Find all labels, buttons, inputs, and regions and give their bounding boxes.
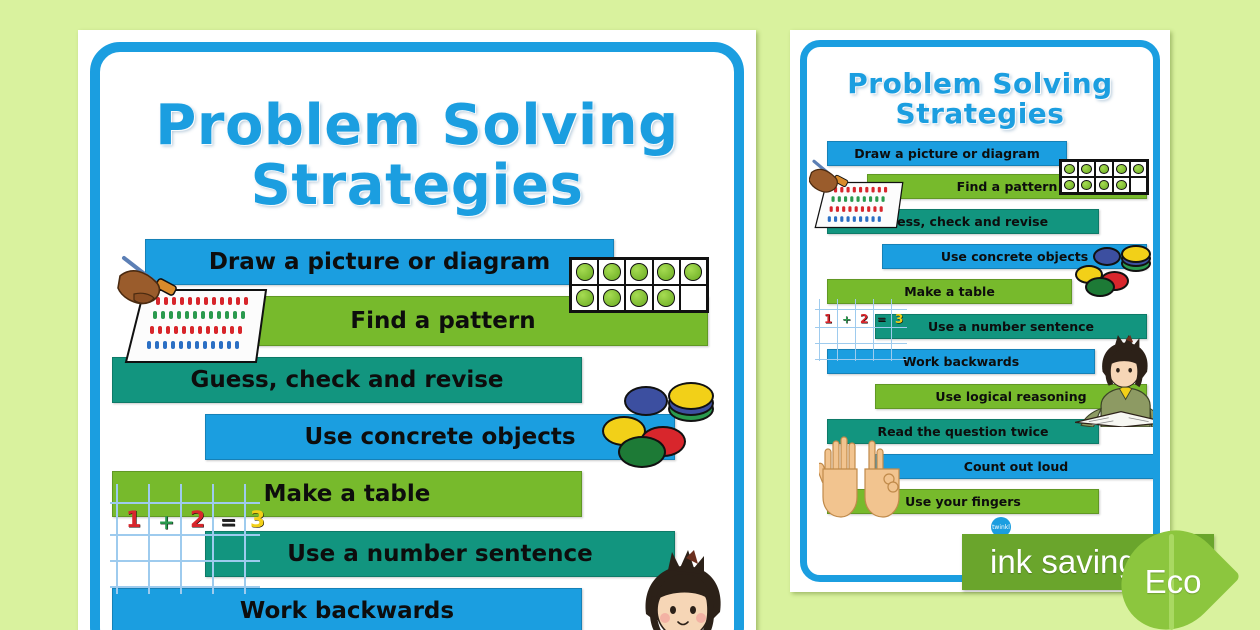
strategy-label: Use your fingers	[828, 494, 1098, 509]
strategy-bar-find-a-pattern[interactable]: Find a pattern	[178, 296, 708, 346]
poster-preview-stage: Problem Solving Strategies Draw a pictur…	[0, 0, 1260, 630]
strategy-bar-guess-check-and-revise[interactable]: Guess, check and revise	[112, 357, 582, 403]
large-poster-title: Problem Solving Strategies	[100, 96, 734, 217]
strategy-label: Use concrete objects	[883, 249, 1146, 264]
strategy-label: Draw a picture or diagram	[146, 249, 613, 275]
strategy-label: Find a pattern	[868, 179, 1146, 194]
strategy-label: Use a number sentence	[206, 541, 674, 567]
small-poster-title: Problem Solving Strategies	[807, 69, 1153, 129]
strategy-label: Make a table	[113, 481, 581, 507]
strategy-bar-make-a-table[interactable]: Make a table	[827, 279, 1072, 304]
strategy-label: Use a number sentence	[876, 319, 1146, 334]
eco-leaf-icon: Eco	[1124, 528, 1218, 630]
strategy-bar-count-out-loud[interactable]: Count out loud	[875, 454, 1157, 479]
strategy-bar-use-concrete-objects[interactable]: Use concrete objects	[205, 414, 675, 460]
large-poster-frame: Problem Solving Strategies Draw a pictur…	[90, 42, 744, 630]
strategy-bar-use-concrete-objects[interactable]: Use concrete objects	[882, 244, 1147, 269]
strategy-label: Guess, check and revise	[113, 367, 581, 393]
strategy-bar-use-logical-reasoning[interactable]: Use logical reasoning	[875, 384, 1147, 409]
strategy-bar-draw-a-picture-or-diagram[interactable]: Draw a picture or diagram	[827, 141, 1067, 166]
strategy-bar-work-backwards[interactable]: Work backwards	[827, 349, 1095, 374]
small-poster-title-line1: Problem Solving	[807, 69, 1153, 99]
strategy-bar-use-a-number-sentence[interactable]: Use a number sentence	[205, 531, 675, 577]
strategy-bar-draw-a-picture-or-diagram[interactable]: Draw a picture or diagram	[145, 239, 614, 285]
strategy-label: Use logical reasoning	[876, 389, 1146, 404]
large-poster-page[interactable]: Problem Solving Strategies Draw a pictur…	[78, 30, 756, 630]
large-poster-title-line1: Problem Solving	[100, 96, 734, 156]
strategy-bar-guess-check-and-revise[interactable]: Guess, check and revise	[827, 209, 1099, 234]
strategy-bar-find-a-pattern[interactable]: Find a pattern	[867, 174, 1147, 199]
strategy-label: Find a pattern	[179, 308, 707, 334]
strategy-label: Work backwards	[113, 598, 581, 624]
large-poster-strategy-list: Draw a picture or diagram Find a pattern…	[100, 239, 734, 630]
small-poster-frame: Problem Solving Strategies Draw a pictur…	[800, 40, 1160, 582]
strategy-label: Work backwards	[828, 354, 1094, 369]
large-poster-title-line2: Strategies	[100, 156, 734, 216]
small-poster-title-line2: Strategies	[807, 99, 1153, 129]
eco-label: Eco	[1124, 528, 1218, 630]
strategy-label: Read the question twice	[828, 424, 1098, 439]
strategy-bar-use-your-fingers[interactable]: Use your fingers	[827, 489, 1099, 514]
strategy-label: Use concrete objects	[206, 424, 674, 450]
strategy-bar-work-backwards[interactable]: Work backwards	[112, 588, 582, 630]
strategy-bar-use-a-number-sentence[interactable]: Use a number sentence	[875, 314, 1147, 339]
ink-saving-eco-badge: ink saving Eco	[962, 528, 1260, 602]
small-poster-page[interactable]: Problem Solving Strategies Draw a pictur…	[790, 30, 1170, 592]
strategy-bar-make-a-table[interactable]: Make a table	[112, 471, 582, 517]
small-poster-strategy-list: Draw a picture or diagram Find a pattern…	[807, 141, 1153, 514]
strategy-label: Make a table	[828, 284, 1071, 299]
strategy-label: Guess, check and revise	[828, 214, 1098, 229]
strategy-bar-read-the-question-twice[interactable]: Read the question twice	[827, 419, 1099, 444]
strategy-label: Draw a picture or diagram	[828, 146, 1066, 161]
strategy-label: Count out loud	[876, 459, 1156, 474]
